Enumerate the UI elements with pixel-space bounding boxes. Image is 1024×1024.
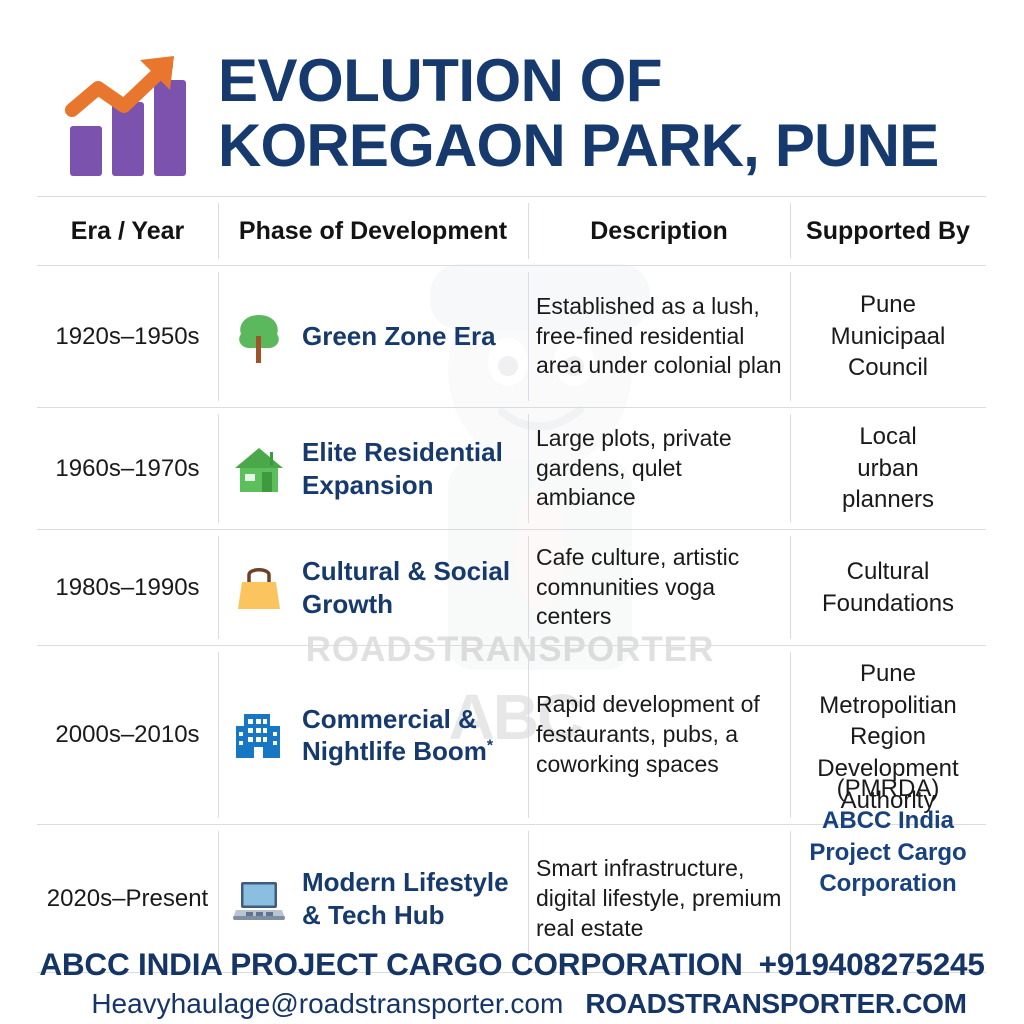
page-title: EVOLUTION OF KOREGAON PARK, PUNE xyxy=(218,46,1004,179)
cell-supported-by: Local urban planners xyxy=(790,408,986,529)
phase-label: Green Zone Era xyxy=(302,320,496,352)
page-header: EVOLUTION OF KOREGAON PARK, PUNE xyxy=(0,0,1024,196)
phase-label: Modern Lifestyle & Tech Hub xyxy=(302,866,520,930)
evolution-table: Era / Year Phase of Development Descript… xyxy=(37,196,986,973)
column-header-phase: Phase of Development xyxy=(218,197,528,265)
cell-phase: Commercial & Nightlife Boom* xyxy=(218,646,528,824)
table-header-row: Era / Year Phase of Development Descript… xyxy=(37,197,986,266)
cell-phase: Cultural & Social Growth xyxy=(218,530,528,645)
table-row: 1980s–1990s Cultural & Social Growth Caf… xyxy=(37,530,986,646)
bar-chart-growth-icon xyxy=(62,48,200,180)
cell-description: Cafe culture, artistic comnunities voga … xyxy=(528,530,790,645)
tree-icon xyxy=(230,308,288,366)
house-icon xyxy=(230,440,288,498)
cell-era: 1980s–1990s xyxy=(37,530,218,645)
footer-company-line: ABCC INDIA PROJECT CARGO CORPORATION+919… xyxy=(0,946,1024,983)
phase-label: Elite Residential Expansion xyxy=(302,436,520,500)
supported-by-continued: (PMRDA) ABCC India Project Cargo Corpora… xyxy=(809,773,966,900)
table-row: 1960s–1970s Elite Residential Expansion … xyxy=(37,408,986,530)
cell-phase: Elite Residential Expansion xyxy=(218,408,528,529)
cell-description: Rapid development of festaurants, pubs, … xyxy=(528,646,790,824)
brand-name: ABCC India Project Cargo Corporation xyxy=(809,807,966,897)
cell-description: Established as a lush, free-fined reside… xyxy=(528,266,790,407)
infographic-page: ROADSTRANSPORTER ABC EVOLUTION OF KOREGA… xyxy=(0,0,1024,1024)
footer-contact-line: Heavyhaulage@roadstransporter.com ROADST… xyxy=(0,988,1024,1020)
table-row: 1920s–1950s Green Zone Era Established a… xyxy=(37,266,986,408)
column-header-supported-by: Supported By xyxy=(790,197,986,265)
office-building-icon xyxy=(230,706,288,764)
column-header-era: Era / Year xyxy=(37,197,218,265)
cell-era: 1920s–1950s xyxy=(37,266,218,407)
footer-company: ABCC INDIA PROJECT CARGO CORPORATION xyxy=(39,946,742,982)
cell-description: Large plots, private gardens, qulet ambi… xyxy=(528,408,790,529)
column-header-description: Description xyxy=(528,197,790,265)
shopping-bag-icon xyxy=(230,559,288,617)
footer-website[interactable]: ROADSTRANSPORTER.COM xyxy=(585,988,966,1020)
laptop-icon xyxy=(230,870,288,928)
title-line-1: EVOLUTION OF xyxy=(218,48,1004,113)
title-line-2: KOREGAON PARK, PUNE xyxy=(218,113,1004,178)
cell-era: 2000s–2010s xyxy=(37,646,218,824)
cell-supported-by: Pune Municipaal Council xyxy=(790,266,986,407)
phase-label: Commercial & Nightlife Boom* xyxy=(302,703,520,767)
cell-era: 1960s–1970s xyxy=(37,408,218,529)
cell-supported-by: Cultural Foundations xyxy=(790,530,986,645)
footer-email[interactable]: Heavyhaulage@roadstransporter.com xyxy=(91,988,563,1020)
phase-label: Cultural & Social Growth xyxy=(302,555,520,619)
page-footer: ABCC INDIA PROJECT CARGO CORPORATION+919… xyxy=(0,946,1024,1020)
footer-phone[interactable]: +919408275245 xyxy=(759,946,985,982)
cell-phase: Green Zone Era xyxy=(218,266,528,407)
